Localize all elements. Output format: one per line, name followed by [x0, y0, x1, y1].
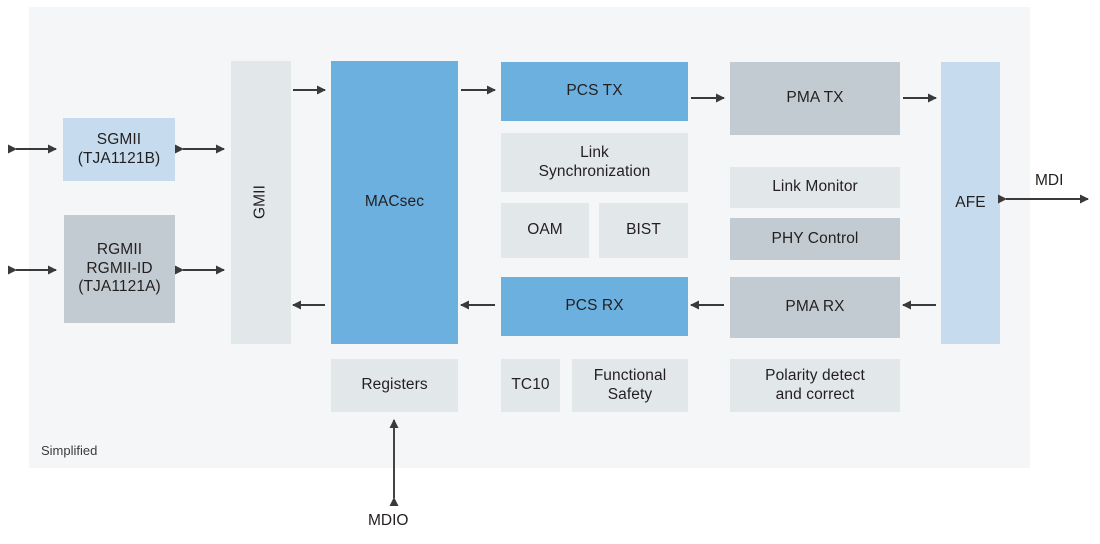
- block-pcs-rx[interactable]: PCS RX: [501, 277, 688, 336]
- block-oam[interactable]: OAM: [501, 203, 589, 258]
- diagram-canvas: SGMII(TJA1121B) RGMIIRGMII-ID(TJA1121A) …: [0, 0, 1100, 544]
- block-pma-rx[interactable]: PMA RX: [730, 277, 900, 338]
- label-mdio: MDIO: [368, 512, 408, 531]
- block-functional-safety[interactable]: FunctionalSafety: [572, 359, 688, 412]
- block-phy-control[interactable]: PHY Control: [730, 218, 900, 260]
- block-registers[interactable]: Registers: [331, 359, 458, 412]
- block-bist[interactable]: BIST: [599, 203, 688, 258]
- block-gmii[interactable]: GMII: [231, 61, 291, 344]
- block-link-monitor[interactable]: Link Monitor: [730, 167, 900, 208]
- block-pma-tx[interactable]: PMA TX: [730, 62, 900, 135]
- block-link-synchronization[interactable]: LinkSynchronization: [501, 133, 688, 192]
- label-mdi: MDI: [1035, 172, 1063, 191]
- block-tc10[interactable]: TC10: [501, 359, 560, 412]
- block-macsec[interactable]: MACsec: [331, 61, 458, 344]
- block-rgmii[interactable]: RGMIIRGMII-ID(TJA1121A): [64, 215, 175, 323]
- block-pcs-tx[interactable]: PCS TX: [501, 62, 688, 121]
- block-sgmii[interactable]: SGMII(TJA1121B): [63, 118, 175, 181]
- block-afe[interactable]: AFE: [941, 62, 1000, 344]
- block-polarity-detect[interactable]: Polarity detectand correct: [730, 359, 900, 412]
- label-simplified: Simplified: [41, 443, 97, 458]
